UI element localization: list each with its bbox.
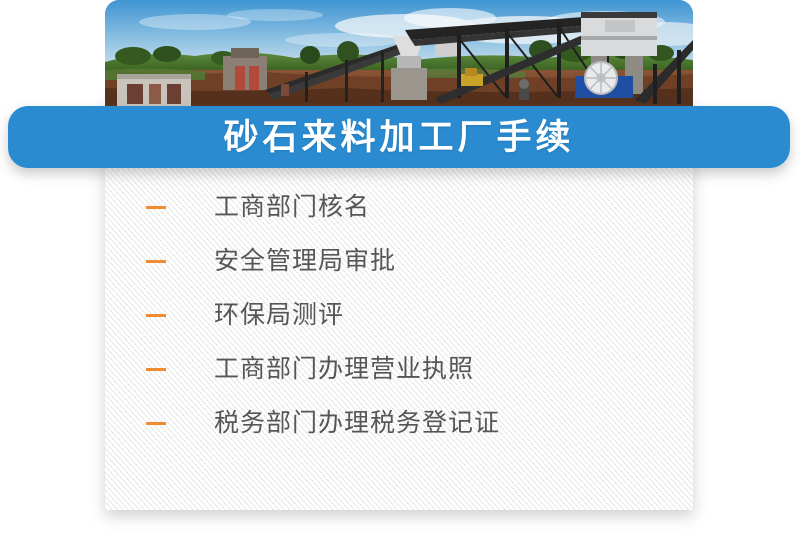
plant-photo	[105, 0, 693, 112]
page-title: 砂石来料加工厂手续	[223, 120, 574, 155]
list-item: 税务部门办理税务登记证	[105, 396, 693, 450]
dash-bullet-icon	[146, 260, 166, 263]
list-item-label: 工商部门核名	[214, 195, 370, 220]
dash-bullet-icon	[146, 314, 166, 317]
title-banner: 砂石来料加工厂手续	[8, 106, 790, 168]
list-item: 安全管理局审批	[105, 234, 693, 288]
list-item-label: 环保局测评	[214, 303, 344, 328]
list-item-label: 税务部门办理税务登记证	[214, 411, 500, 436]
list-item-label: 工商部门办理营业执照	[214, 357, 474, 382]
list-item-label: 安全管理局审批	[214, 249, 396, 274]
list-item: 工商部门核名	[105, 180, 693, 234]
dash-bullet-icon	[146, 422, 166, 425]
dash-bullet-icon	[146, 206, 166, 209]
plant-photo-illustration	[105, 0, 693, 112]
dash-bullet-icon	[146, 368, 166, 371]
procedure-steps-list: 工商部门核名 安全管理局审批 环保局测评 工商部门办理营业执照 税务部门办理税务…	[105, 180, 693, 450]
list-item: 环保局测评	[105, 288, 693, 342]
list-item: 工商部门办理营业执照	[105, 342, 693, 396]
